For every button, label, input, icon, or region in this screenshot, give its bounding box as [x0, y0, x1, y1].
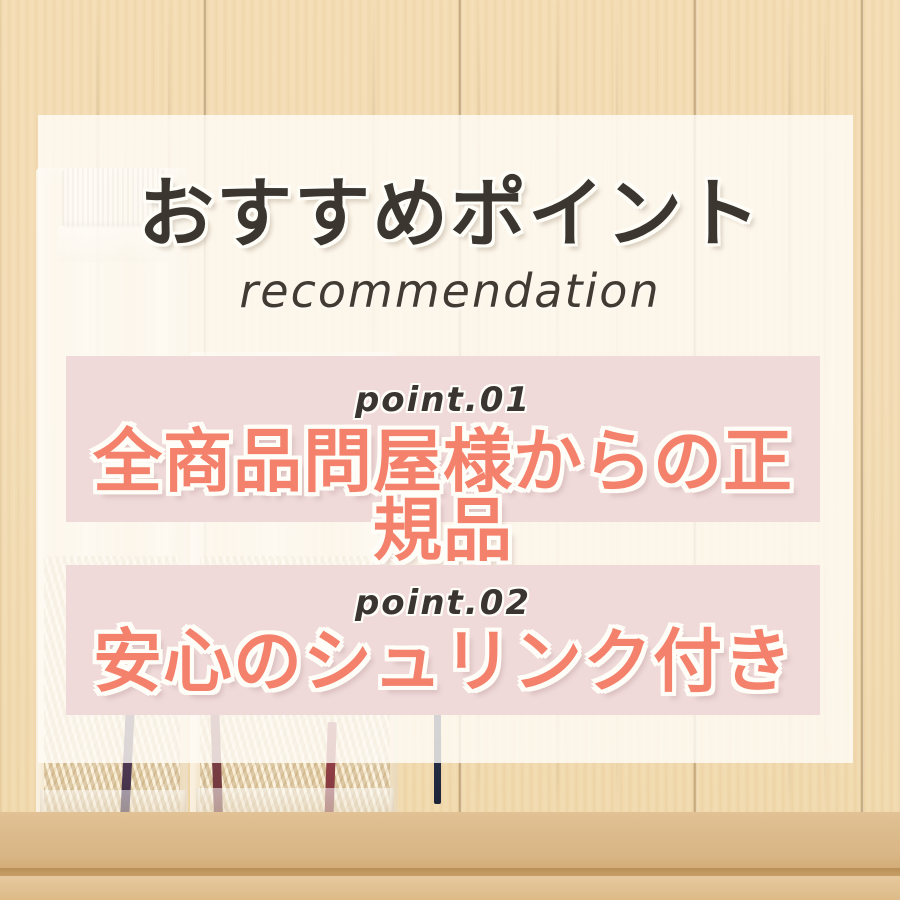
- page-subtitle: recommendation: [0, 266, 900, 317]
- point-label-2: point.02: [66, 583, 820, 623]
- page-title: おすすめポイント: [0, 176, 900, 252]
- point-text-2: 安心のシュリンク付き: [66, 628, 820, 697]
- shelf-front-face: [0, 876, 900, 900]
- shelf-surface: [0, 812, 900, 874]
- point-text-1: 全商品問屋様からの正規品: [66, 428, 820, 566]
- point-label-1: point.01: [66, 380, 820, 420]
- plank-seam: [860, 0, 864, 812]
- point-band-2: point.02 安心のシュリンク付き: [66, 565, 820, 715]
- promo-banner: おすすめポイント recommendation point.01 全商品問屋様か…: [0, 0, 900, 900]
- point-band-1: point.01 全商品問屋様からの正規品: [66, 356, 820, 522]
